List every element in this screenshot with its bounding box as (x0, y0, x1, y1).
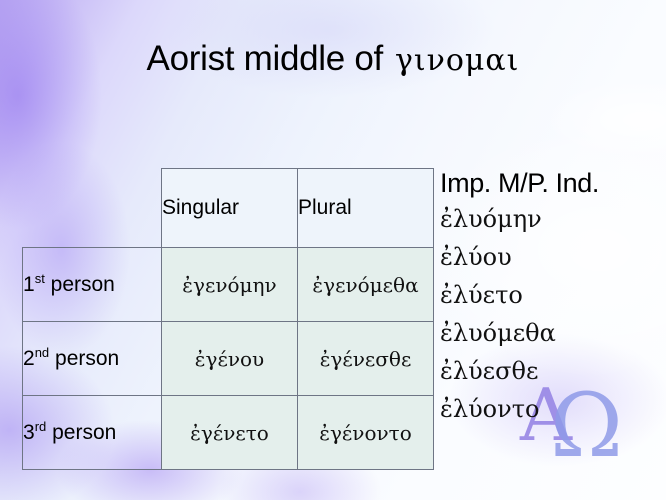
table-corner-cell (23, 169, 162, 248)
person-word: person (52, 421, 116, 444)
side-form-1st-singular: ἐλυόμην (440, 200, 666, 238)
slide-title: Aorist middle ofγινομαι (0, 38, 666, 82)
row-label-first-person: 1st person (23, 248, 162, 322)
row-label-third-person: 3rd person (23, 396, 162, 470)
table-header-row: Singular Plural (23, 169, 434, 248)
person-number: 1 (23, 273, 35, 296)
person-word: person (51, 273, 115, 296)
column-header-singular: Singular (162, 169, 298, 248)
slide-canvas: Α Ω Aorist middle ofγινομαι Singular Plu… (0, 0, 666, 500)
slide-title-latin: Aorist middle of (147, 39, 383, 78)
cell-third-singular: ἐγένετο (162, 396, 298, 470)
side-form-2nd-singular: ἐλύου (440, 238, 666, 276)
side-form-3rd-plural: ἐλύοντο (440, 390, 666, 428)
column-header-plural: Plural (298, 169, 434, 248)
person-ordinal-suffix: rd (35, 419, 47, 434)
side-column-heading: Imp. M/P. Ind. (440, 166, 666, 200)
cell-first-singular: ἐγενόμην (162, 248, 298, 322)
cell-first-plural: ἐγενόμεθα (298, 248, 434, 322)
side-form-1st-plural: ἐλυόμεθα (440, 314, 666, 352)
slide-title-greek: γινομαι (395, 43, 520, 78)
person-number: 3 (23, 421, 35, 444)
table-row: 3rd person ἐγένετο ἐγένοντο (23, 396, 434, 470)
person-ordinal-suffix: nd (35, 345, 49, 360)
cell-second-singular: ἐγένου (162, 322, 298, 396)
cell-second-plural: ἐγένεσθε (298, 322, 434, 396)
person-number: 2 (23, 347, 35, 370)
table-row: 2nd person ἐγένου ἐγένεσθε (23, 322, 434, 396)
cell-third-plural: ἐγένοντο (298, 396, 434, 470)
table-row: 1st person ἐγενόμην ἐγενόμεθα (23, 248, 434, 322)
side-form-2nd-plural: ἐλύεσθε (440, 352, 666, 390)
person-word: person (55, 347, 119, 370)
imperfect-mp-indicative-column: Imp. M/P. Ind. ἐλυόμην ἐλύου ἐλύετο ἐλυό… (440, 166, 666, 428)
person-ordinal-suffix: st (35, 271, 45, 286)
aorist-middle-table: Singular Plural 1st person ἐγενόμην ἐγεν… (22, 168, 434, 470)
row-label-second-person: 2nd person (23, 322, 162, 396)
side-form-3rd-singular: ἐλύετο (440, 276, 666, 314)
